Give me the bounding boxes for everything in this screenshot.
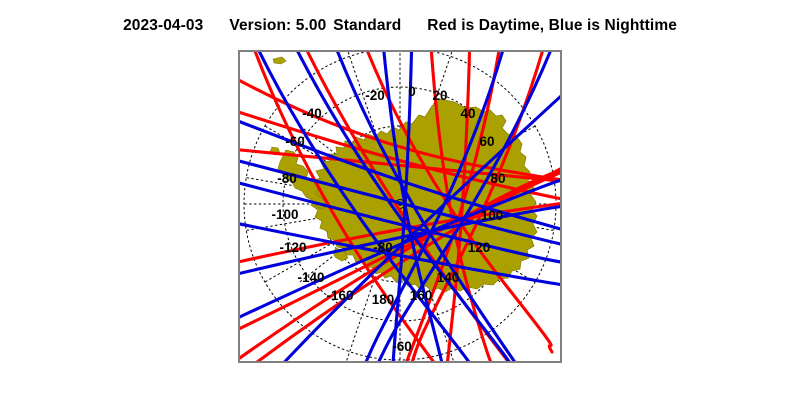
latitude-label-neg80: -80 <box>373 240 393 255</box>
longitude-label-0: 0 <box>408 84 416 99</box>
longitude-label-80: 80 <box>490 171 505 186</box>
longitude-label-neg60: -60 <box>285 134 305 149</box>
title-version: Version: 5.00 <box>229 17 326 35</box>
longitude-label-180: 180 <box>372 292 395 307</box>
chart-title: 2023-04-03 Version: 5.00 Standard Red is… <box>0 14 800 38</box>
longitude-label-140: 140 <box>437 270 460 285</box>
longitude-label-neg100: -100 <box>271 207 298 222</box>
longitude-label-40: 40 <box>460 106 475 121</box>
longitude-label-120: 120 <box>468 240 491 255</box>
longitude-label-neg140: -140 <box>297 270 324 285</box>
longitude-label-neg80: -80 <box>277 171 297 186</box>
title-legend: Red is Daytime, Blue is Nighttime <box>427 17 677 35</box>
latitude-label-neg60: -60 <box>392 339 412 354</box>
title-date: 2023-04-03 <box>123 17 203 35</box>
longitude-label-neg20: -20 <box>365 88 385 103</box>
longitude-label-neg40: -40 <box>302 106 322 121</box>
polar-map-svg: -20020406080100120140160180-160-140-120-… <box>240 52 560 361</box>
longitude-label-neg120: -120 <box>279 240 306 255</box>
longitude-label-60: 60 <box>479 134 494 149</box>
longitude-label-160: 160 <box>410 288 433 303</box>
title-mode: Standard <box>333 17 401 35</box>
longitude-label-100: 100 <box>481 208 504 223</box>
longitude-label-neg160: -160 <box>326 288 353 303</box>
longitude-label-20: 20 <box>432 88 447 103</box>
screenshot-root: 2023-04-03 Version: 5.00 Standard Red is… <box>0 0 800 400</box>
polar-map-plot: -20020406080100120140160180-160-140-120-… <box>238 50 562 363</box>
